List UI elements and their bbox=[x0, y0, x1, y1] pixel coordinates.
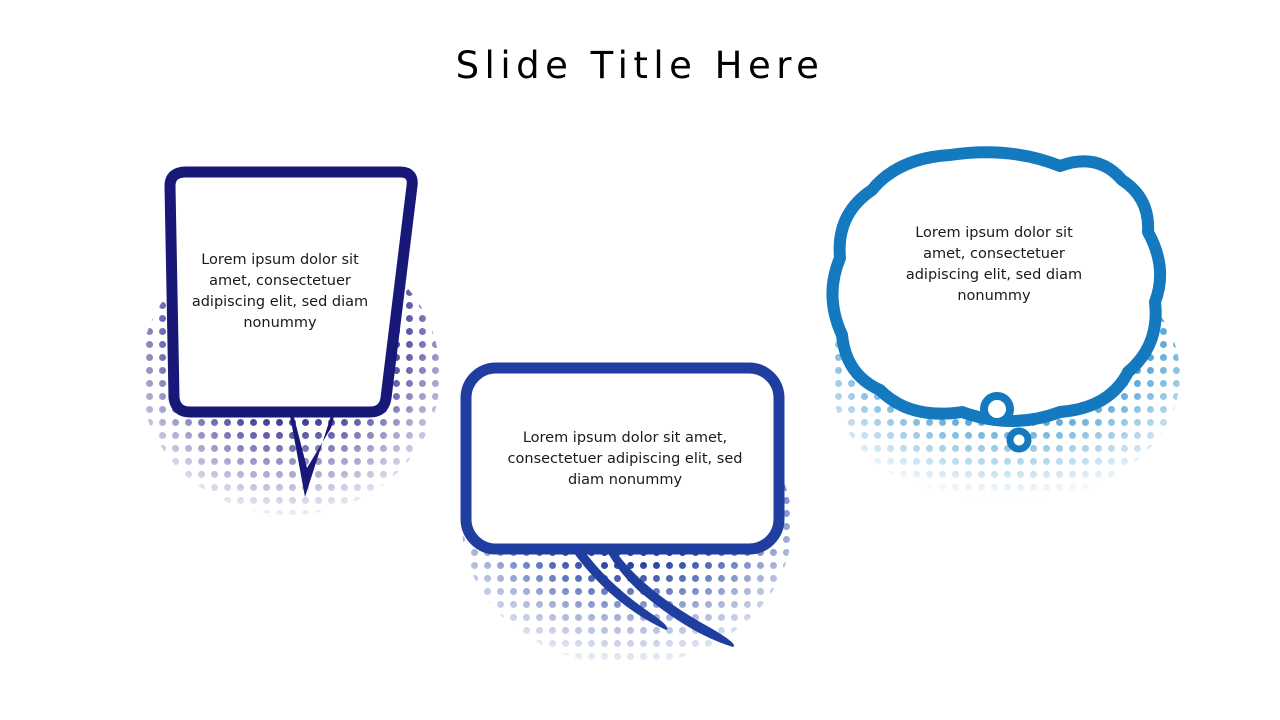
bubble-3-tail-circle-small bbox=[1010, 431, 1028, 449]
bubble-3-svg bbox=[0, 0, 1280, 720]
bubble-1-text: Lorem ipsum dolor sit amet, consectetuer… bbox=[186, 250, 374, 334]
bubble-1-graphic bbox=[0, 0, 1280, 720]
slide-canvas: Slide Title Here bbox=[0, 0, 1280, 720]
bubble-2-tail-inner bbox=[559, 520, 667, 630]
page-title: Slide Title Here bbox=[0, 44, 1280, 87]
bubble-3-tail-circle-large bbox=[984, 396, 1010, 422]
bubble-3-graphic bbox=[0, 0, 1280, 720]
bubble-1-tail bbox=[282, 372, 345, 497]
bubble-2-tail-outer bbox=[592, 505, 734, 647]
bubble-2-text: Lorem ipsum dolor sit amet, consectetuer… bbox=[500, 428, 750, 491]
bubble-2-graphic bbox=[0, 0, 1280, 720]
bubble-1-svg bbox=[0, 0, 1280, 720]
bubble-3-text: Lorem ipsum dolor sit amet, consectetuer… bbox=[898, 223, 1090, 307]
bubble-2-svg bbox=[0, 0, 1280, 720]
bubble-2-halftone bbox=[462, 385, 792, 665]
